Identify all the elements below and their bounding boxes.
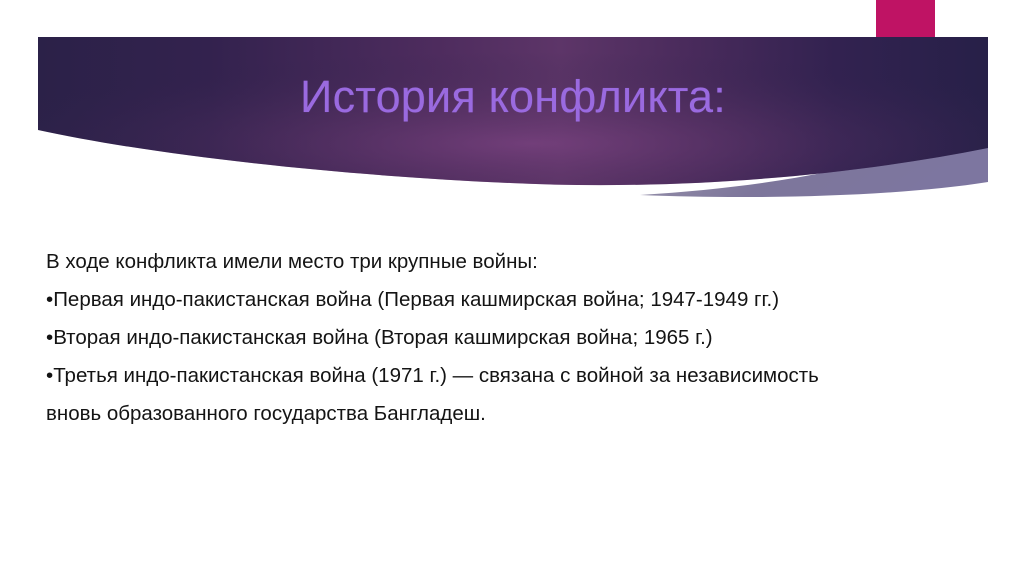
list-item-text: Третья индо-пакистанская война (1971 г.)… (53, 364, 819, 387)
list-item-continuation: вновь образованного государства Бангладе… (46, 395, 992, 433)
list-item-text: Вторая индо-пакистанская война (Вторая к… (53, 326, 712, 349)
header-banner (0, 0, 1024, 200)
slide: История конфликта: В ходе конфликта имел… (0, 0, 1024, 576)
body-content: В ходе конфликта имели место три крупные… (46, 243, 992, 433)
list-item-line: •Третья индо-пакистанская война (1971 г.… (46, 357, 992, 395)
list-item: •Первая индо-пакистанская война (Первая … (46, 281, 992, 319)
list-item: •Вторая индо-пакистанская война (Вторая … (46, 319, 992, 357)
intro-line: В ходе конфликта имели место три крупные… (46, 243, 992, 281)
list-item-text: Первая индо-пакистанская война (Первая к… (53, 288, 779, 311)
banner-shape (38, 37, 988, 185)
list-item: •Третья индо-пакистанская война (1971 г.… (46, 357, 992, 433)
